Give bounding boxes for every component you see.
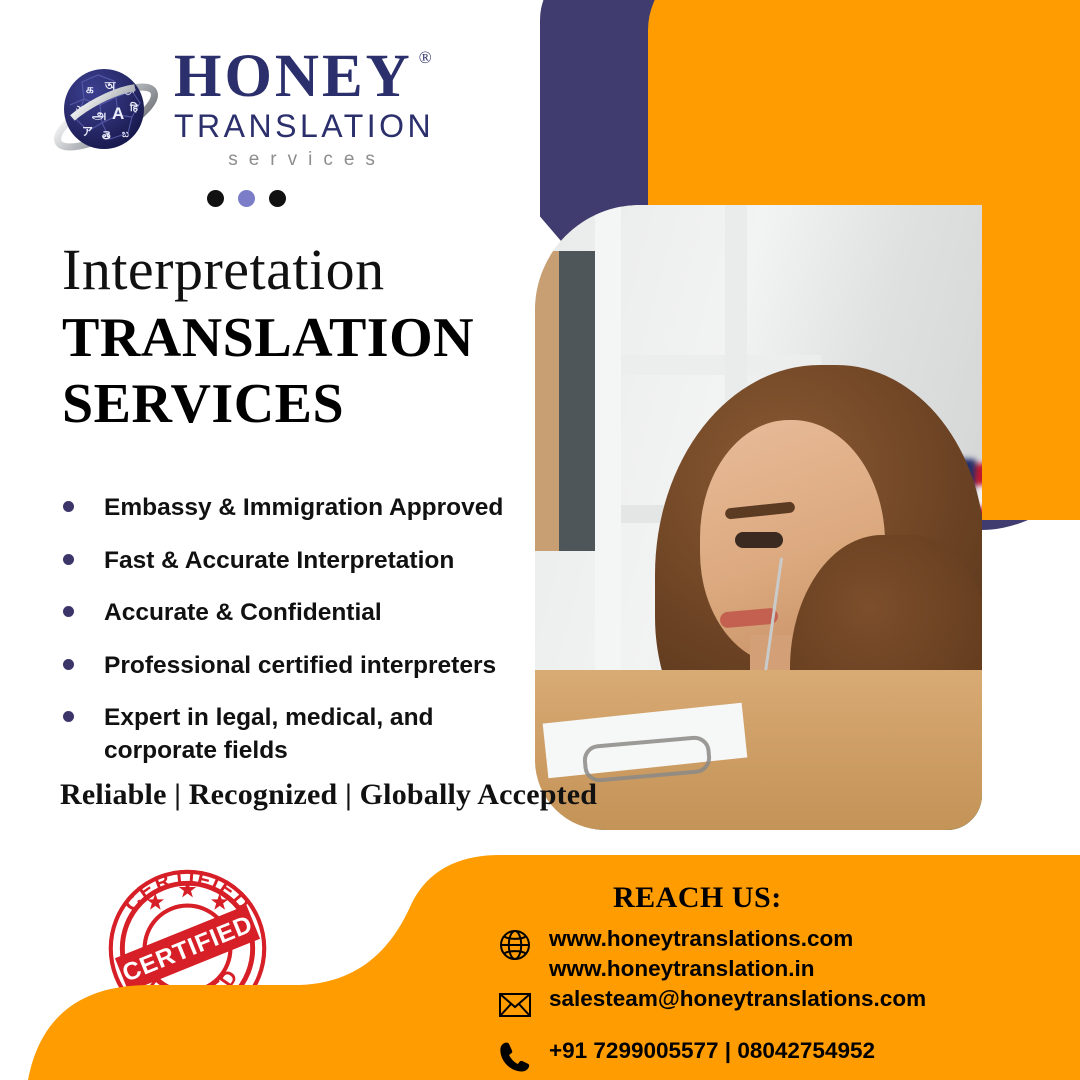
phone-icon (495, 1037, 535, 1077)
feature-text: Embassy & Immigration Approved (104, 492, 503, 525)
photo-shelf-dark (559, 251, 599, 551)
feature-text: Expert in legal, medical, and corporate … (104, 702, 464, 767)
bullet-dot-icon (63, 711, 74, 722)
interpreter-photo (535, 205, 982, 830)
list-item: Accurate & Confidential (55, 597, 545, 630)
feature-text: Professional certified interpreters (104, 650, 496, 683)
registered-trademark-icon: ® (419, 50, 435, 66)
phone-text: +91 7299005577 | 08042754952 (549, 1037, 875, 1064)
contact-row-website[interactable]: www.honeytranslations.com www.honeytrans… (495, 925, 853, 982)
brand-logo[interactable]: க অ ਾ ગ அ A हि ア తె ಬ HONEY® TRANSLATION (52, 48, 434, 174)
svg-text:ಬ: ಬ (122, 129, 129, 140)
dot-2 (238, 190, 255, 207)
list-item: Embassy & Immigration Approved (55, 492, 545, 525)
logo-name-secondary: TRANSLATION (174, 106, 434, 146)
svg-text:க: க (86, 82, 94, 96)
decorative-dots (207, 190, 286, 207)
photo-eye (735, 532, 783, 548)
contact-heading: REACH US: (613, 881, 782, 915)
list-item: Expert in legal, medical, and corporate … (55, 702, 545, 767)
page-title-line-2: SERVICES (62, 371, 542, 437)
bullet-dot-icon (63, 554, 74, 565)
logo-name-tertiary: services (174, 146, 434, 175)
page-subtitle: Interpretation (62, 236, 385, 303)
dot-3 (269, 190, 286, 207)
contact-row-phone[interactable]: +91 7299005577 | 08042754952 (495, 1037, 875, 1077)
tagline: Reliable | Recognized | Globally Accepte… (60, 778, 597, 812)
website-line-2: www.honeytranslation.in (549, 955, 853, 982)
bullet-dot-icon (63, 501, 74, 512)
svg-text:తె: తె (102, 130, 111, 142)
logo-wordmark: HONEY® TRANSLATION services (174, 48, 434, 174)
dot-1 (207, 190, 224, 207)
feature-text: Accurate & Confidential (104, 597, 382, 630)
website-line-1: www.honeytranslations.com (549, 926, 853, 951)
bullet-dot-icon (63, 606, 74, 617)
svg-text:அ: அ (92, 107, 106, 122)
svg-text:A: A (112, 104, 124, 123)
website-text: www.honeytranslations.com www.honeytrans… (549, 925, 853, 982)
logo-name-primary: HONEY® (174, 48, 413, 106)
globe-languages-icon: க অ ਾ ગ அ A हि ア తె ಬ (52, 57, 160, 165)
feature-list: Embassy & Immigration Approved Fast & Ac… (55, 492, 545, 767)
svg-text:ア: ア (82, 125, 93, 138)
poster-canvas: க অ ਾ ગ அ A हि ア తె ಬ HONEY® TRANSLATION (0, 0, 1080, 1080)
list-item: Fast & Accurate Interpretation (55, 545, 545, 578)
contact-row-email[interactable]: salesteam@honeytranslations.com (495, 985, 926, 1025)
svg-text:हि: हि (129, 101, 139, 114)
feature-text: Fast & Accurate Interpretation (104, 545, 454, 578)
bullet-dot-icon (63, 659, 74, 670)
globe-icon (495, 925, 535, 965)
email-text: salesteam@honeytranslations.com (549, 985, 926, 1012)
logo-primary-text: HONEY (174, 43, 413, 110)
page-title: TRANSLATION SERVICES (62, 305, 542, 437)
page-title-line-1: TRANSLATION (62, 305, 542, 371)
envelope-icon (495, 985, 535, 1025)
contact-info: REACH US: www.honeytranslations.com www.… (0, 855, 1080, 1080)
photo-shelf-post (595, 205, 621, 675)
list-item: Professional certified interpreters (55, 650, 545, 683)
